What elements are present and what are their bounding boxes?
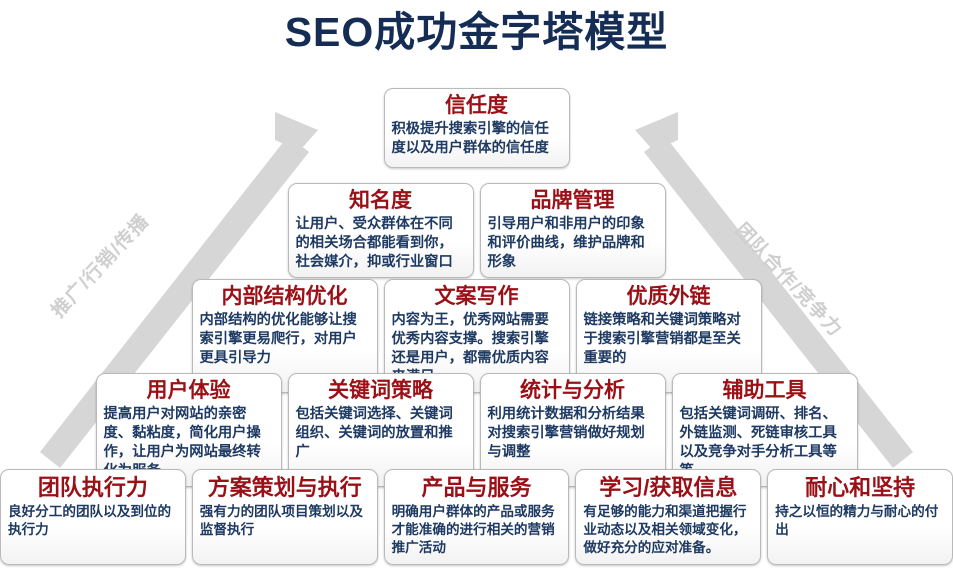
pyramid-tier-2: 知名度 让用户、受众群体在不同的相关场合都能看到你，社会媒介，抑或行业窗口 品牌… (0, 183, 953, 278)
node-title: 耐心和坚持 (775, 474, 945, 502)
node-description: 明确用户群体的产品或服务才能准确的进行相关的营销推广活动 (392, 503, 562, 557)
node-description: 包括关键词选择、关键词组织、关键词的放置和推广 (296, 405, 466, 462)
pyramid-node[interactable]: 耐心和坚持 持之以恒的精力与耐心的付出 (767, 469, 953, 565)
node-title: 信任度 (392, 93, 562, 119)
node-description: 引导用户和非用户的印象和评价曲线，维护品牌和形象 (488, 215, 658, 272)
node-description: 链接策略和关键词策略对于搜索引擎营销都是至关重要的 (584, 311, 754, 368)
node-title: 内部结构优化 (200, 284, 370, 310)
pyramid-node[interactable]: 产品与服务 明确用户群体的产品或服务才能准确的进行相关的营销推广活动 (384, 469, 570, 565)
node-description: 强有力的团队项目策划以及监督执行 (200, 503, 370, 539)
pyramid-diagram-canvas: SEO成功金字塔模型 推广/行销/传播 团队合作/竞争力 信任度 积极提升搜索引… (0, 0, 953, 575)
node-description: 良好分工的团队以及到位的执行力 (8, 503, 178, 539)
node-title: 产品与服务 (392, 474, 562, 502)
node-title: 学习/获取信息 (583, 474, 753, 502)
node-title: 关键词策略 (296, 378, 466, 404)
node-description: 积极提升搜索引擎的信任度以及用户群体的信任度 (392, 120, 562, 158)
pyramid-node[interactable]: 品牌管理 引导用户和非用户的印象和评价曲线，维护品牌和形象 (480, 183, 666, 278)
node-description: 持之以恒的精力与耐心的付出 (775, 503, 945, 539)
node-title: 知名度 (296, 188, 466, 214)
node-description: 让用户、受众群体在不同的相关场合都能看到你，社会媒介，抑或行业窗口 (296, 215, 466, 272)
pyramid-node[interactable]: 信任度 积极提升搜索引擎的信任度以及用户群体的信任度 (384, 88, 570, 168)
pyramid-node[interactable]: 学习/获取信息 有足够的能力和渠道把握行业动态以及相关领域变化，做好充分的应对准… (575, 469, 761, 565)
node-title: 团队执行力 (8, 474, 178, 502)
node-title: 统计与分析 (488, 378, 658, 404)
node-title: 方案策划与执行 (200, 474, 370, 502)
node-title: 文案写作 (392, 284, 562, 310)
node-description: 内部结构的优化能够让搜索引擎更易爬行，对用户更具引导力 (200, 311, 370, 368)
node-title: 用户体验 (104, 378, 274, 404)
node-description: 利用统计数据和分析结果对搜索引擎营销做好规划与调整 (488, 405, 658, 462)
pyramid-tier-1: 信任度 积极提升搜索引擎的信任度以及用户群体的信任度 (0, 88, 953, 168)
node-title: 品牌管理 (488, 188, 658, 214)
node-title: 辅助工具 (680, 378, 850, 404)
pyramid-node[interactable]: 方案策划与执行 强有力的团队项目策划以及监督执行 (192, 469, 378, 565)
pyramid-node[interactable]: 团队执行力 良好分工的团队以及到位的执行力 (0, 469, 186, 565)
pyramid-tier-5: 团队执行力 良好分工的团队以及到位的执行力 方案策划与执行 强有力的团队项目策划… (0, 469, 953, 565)
node-description: 有足够的能力和渠道把握行业动态以及相关领域变化，做好充分的应对准备。 (583, 503, 753, 557)
node-title: 优质外链 (584, 284, 754, 310)
pyramid-node[interactable]: 知名度 让用户、受众群体在不同的相关场合都能看到你，社会媒介，抑或行业窗口 (288, 183, 474, 278)
